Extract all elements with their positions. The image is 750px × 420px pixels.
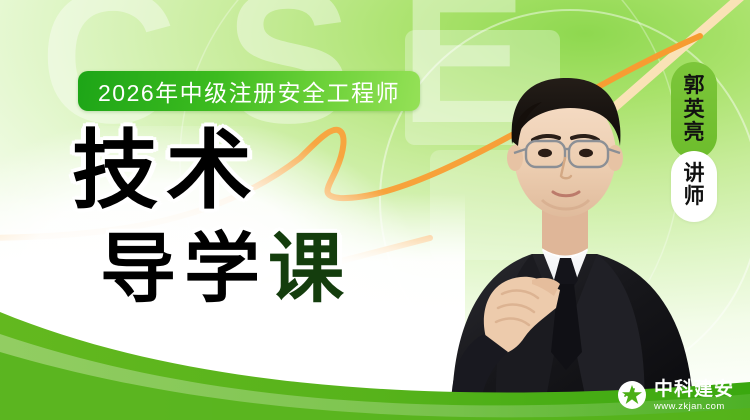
- headline-line-1: 技术: [72, 128, 352, 214]
- instructor-name-char-1: 郭: [684, 74, 705, 98]
- instructor-name-char-3: 亮: [684, 121, 705, 145]
- instructor-role-pill: 讲 师: [671, 151, 717, 222]
- instructor-role-char-1: 讲: [684, 162, 705, 186]
- brand-logo: 中科建安 www.zkjan.com: [617, 380, 734, 412]
- instructor-badge: 郭 英 亮 讲 师: [671, 62, 717, 222]
- course-poster: CSE: [0, 0, 750, 420]
- circle-star-icon: [617, 380, 647, 410]
- brand-url: www.zkjan.com: [654, 402, 734, 412]
- instructor-role-char-2: 师: [684, 185, 705, 209]
- brand-name: 中科建安: [654, 380, 734, 399]
- instructor-name-pill: 郭 英 亮: [671, 62, 717, 159]
- course-subtitle-badge: 2026年中级注册安全工程师: [78, 71, 420, 111]
- instructor-name-char-2: 英: [684, 98, 705, 122]
- poster-headline: 技术 导学课: [72, 128, 352, 308]
- brand-logo-text: 中科建安 www.zkjan.com: [654, 380, 734, 412]
- course-subtitle-label: 2026年中级注册安全工程师: [98, 74, 400, 108]
